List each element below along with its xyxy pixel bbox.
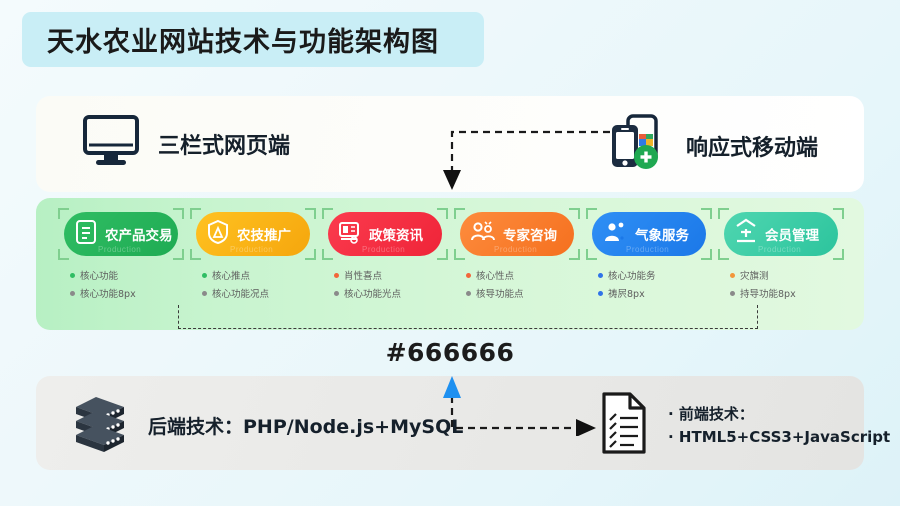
feature-bullets: 核心功能 核心功能8px [58, 268, 184, 300]
web-client-block: 三栏式网页端 [82, 114, 290, 173]
corner-handle-icon [437, 249, 448, 260]
bullet-label: 祷屄8px [608, 286, 645, 300]
policy-screen-icon [337, 218, 363, 251]
corner-handle-icon [586, 208, 597, 219]
weather-user-icon [601, 218, 629, 251]
bullet-label: 肖性喜点 [344, 268, 382, 282]
corner-handle-icon [190, 208, 201, 219]
bullet-label: 核心推点 [212, 268, 250, 282]
corner-handle-icon [718, 249, 729, 260]
bullet-item: 肖性喜点 [334, 268, 448, 282]
bullet-item: 祷屄8px [598, 286, 712, 300]
corner-handle-icon [454, 249, 465, 260]
feature-card-label: 会员管理 [765, 224, 819, 244]
page-title: 天水农业网站技术与功能架构图 [47, 20, 439, 59]
bullet-dot-icon [202, 273, 207, 278]
feature-card-label: 政策资讯 [369, 224, 423, 244]
dashed-elbow-arrow-down [430, 120, 610, 200]
frontend-tech-lines: · 前端技术： · HTML5+CSS3+JavaScript [668, 403, 890, 448]
corner-handle-icon [322, 208, 333, 219]
shield-plant-icon [205, 218, 231, 251]
web-client-label: 三栏式网页端 [158, 128, 290, 160]
bullet-label: 核心功能8px [80, 286, 136, 300]
bullet-item: 持导功能8px [730, 286, 844, 300]
corner-handle-icon [190, 249, 201, 260]
bullet-item: 核心功能8px [70, 286, 184, 300]
frontend-tech-block: · 前端技术： · HTML5+CSS3+JavaScript [596, 390, 890, 461]
bullet-label: 核心功能光点 [344, 286, 401, 300]
page-title-chip: 天水农业网站技术与功能架构图 [22, 12, 484, 67]
corner-handle-icon [833, 208, 844, 219]
bullet-dot-icon [598, 291, 603, 296]
corner-handle-icon [701, 249, 712, 260]
bullet-label: 核导功能点 [476, 286, 524, 300]
bullet-dot-icon [70, 291, 75, 296]
bullet-item: 核心推点 [202, 268, 316, 282]
bullet-item: 核心功能务 [598, 268, 712, 282]
member-hui-icon [733, 218, 759, 251]
feature-bullets: 灾旗测 持导功能8px [718, 268, 844, 300]
bullet-label: 核心功能 [80, 268, 118, 282]
bullet-item: 核心功能况点 [202, 286, 316, 300]
corner-handle-icon [569, 208, 580, 219]
bullet-item: 核心功能 [70, 268, 184, 282]
document-list-icon [73, 218, 99, 251]
corner-handle-icon [173, 208, 184, 219]
card-watermark: Production [230, 245, 273, 254]
feature-card-agri-trade[interactable]: 农产品交易 Production 核心功能 核心功能8px [58, 208, 184, 326]
dashed-elbow-arrow-bottom [430, 366, 600, 436]
corner-handle-icon [718, 208, 729, 219]
card-watermark: Production [362, 245, 405, 254]
corner-handle-icon [173, 249, 184, 260]
corner-handle-icon [569, 249, 580, 260]
corner-handle-icon [322, 249, 333, 260]
corner-handle-icon [58, 208, 69, 219]
card-watermark: Production [758, 245, 801, 254]
mobile-client-block: 响应式移动端 [606, 112, 818, 179]
bullet-dot-icon [466, 273, 471, 278]
feature-card-label: 气象服务 [635, 224, 689, 244]
bullet-label: 核心性点 [476, 268, 514, 282]
mobile-phones-icon [606, 112, 668, 179]
bullet-dot-icon [70, 273, 75, 278]
hex-color-code: #666666 [0, 338, 900, 367]
bullet-dot-icon [202, 291, 207, 296]
backend-tech-block: 后端技术：PHP/Node.js+MySQL [68, 393, 463, 458]
feature-bullets: 核心推点 核心功能况点 [190, 268, 316, 300]
corner-handle-icon [305, 249, 316, 260]
feature-bullets: 核心功能务 祷屄8px [586, 268, 712, 300]
bullet-item: 核心功能光点 [334, 286, 448, 300]
feature-bullets: 核心性点 核导功能点 [454, 268, 580, 300]
document-page-icon [596, 390, 652, 461]
bullet-label: 灾旗测 [740, 268, 769, 282]
bullet-dot-icon [598, 273, 603, 278]
corner-handle-icon [454, 208, 465, 219]
corner-handle-icon [437, 208, 448, 219]
backend-tech-label: 后端技术：PHP/Node.js+MySQL [148, 412, 463, 439]
frontend-line: · 前端技术： [668, 403, 890, 426]
card-watermark: Production [98, 245, 141, 254]
bullet-label: 核心功能务 [608, 268, 656, 282]
server-stack-icon [68, 393, 132, 458]
feature-card-label: 专家咨询 [503, 224, 557, 244]
feature-card-label: 农产品交易 [105, 224, 173, 244]
feature-bullets: 肖性喜点 核心功能光点 [322, 268, 448, 300]
architecture-diagram-canvas: 天水农业网站技术与功能架构图 三栏式网页端 [0, 0, 900, 506]
bullet-item: 核导功能点 [466, 286, 580, 300]
bullet-dot-icon [730, 291, 735, 296]
corner-handle-icon [586, 249, 597, 260]
mobile-client-label: 响应式移动端 [686, 130, 818, 162]
experts-people-icon [469, 218, 497, 251]
bullet-dot-icon [334, 291, 339, 296]
bullet-label: 核心功能况点 [212, 286, 269, 300]
corner-handle-icon [305, 208, 316, 219]
corner-handle-icon [58, 249, 69, 260]
frontend-line: · HTML5+CSS3+JavaScript [668, 426, 890, 449]
feature-group-bracket [178, 305, 758, 329]
bullet-item: 核心性点 [466, 268, 580, 282]
corner-handle-icon [833, 249, 844, 260]
corner-handle-icon [701, 208, 712, 219]
feature-card-label: 农技推广 [237, 224, 291, 244]
bullet-dot-icon [334, 273, 339, 278]
bullet-item: 灾旗测 [730, 268, 844, 282]
desktop-monitor-icon [82, 114, 140, 173]
card-watermark: Production [494, 245, 537, 254]
bullet-dot-icon [466, 291, 471, 296]
bullet-label: 持导功能8px [740, 286, 796, 300]
card-watermark: Production [626, 245, 669, 254]
bullet-dot-icon [730, 273, 735, 278]
